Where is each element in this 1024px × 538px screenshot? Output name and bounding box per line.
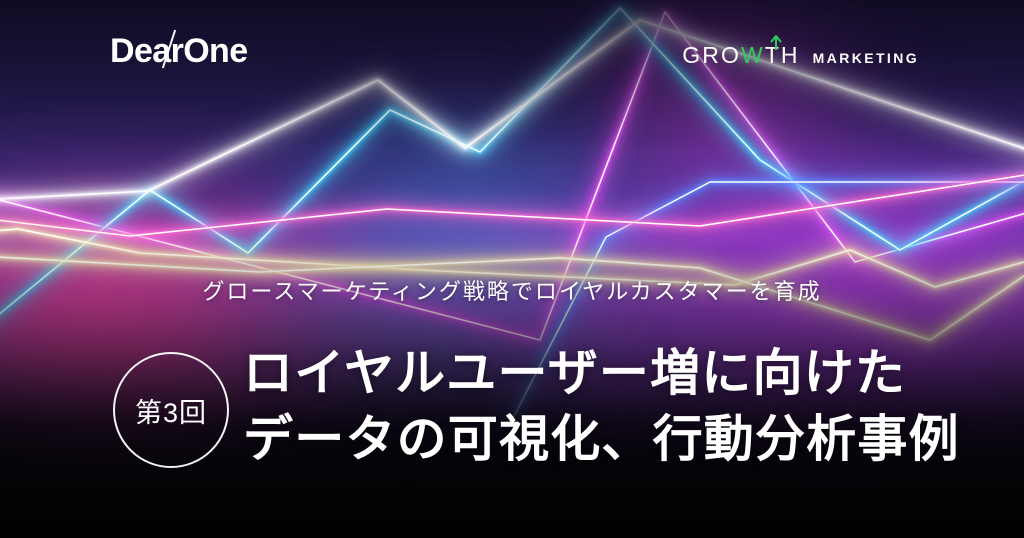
title-line-1: ロイヤルユーザー増に向けた — [243, 340, 960, 406]
episode-badge-label: 第3回 — [135, 391, 207, 430]
top-vignette — [0, 0, 1024, 150]
title-line-2: データの可視化、行動分析事例 — [243, 406, 960, 472]
dearone-logo[interactable]: DearOne — [110, 34, 248, 68]
growth-marketing-logo[interactable]: GROWTH MARKETING — [682, 42, 919, 69]
growth-accent-letter: W — [741, 42, 765, 68]
growth-wordmark: GROWTH — [682, 42, 799, 69]
episode-badge: 第3回 — [113, 352, 229, 468]
marketing-wordmark: MARKETING — [813, 50, 919, 66]
growth-prefix: GRO — [682, 42, 741, 68]
up-arrow-icon — [770, 34, 782, 50]
dearone-logo-text: DearOne — [110, 32, 248, 70]
banner-title: ロイヤルユーザー増に向けた データの可視化、行動分析事例 — [243, 340, 960, 472]
promo-banner: DearOne GROWTH MARKETING グロースマーケティング戦略でロ… — [0, 0, 1024, 538]
banner-subtitle: グロースマーケティング戦略でロイヤルカスタマーを育成 — [0, 274, 1024, 306]
